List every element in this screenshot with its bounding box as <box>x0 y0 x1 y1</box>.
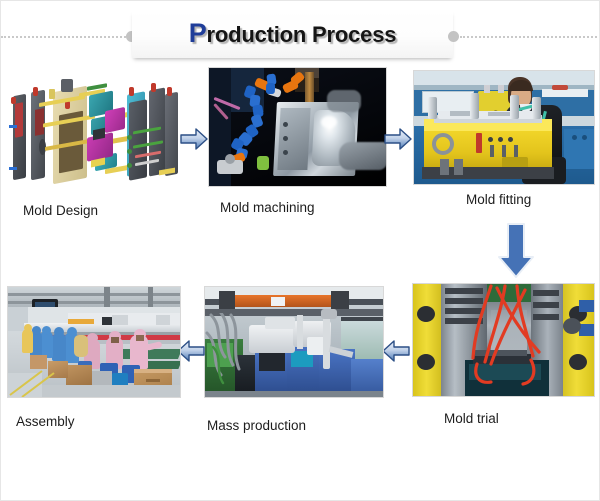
arrow-trial-to-mass-production-icon <box>382 339 410 363</box>
header-connector-left <box>1 36 126 40</box>
step-image-mass-production <box>204 286 384 398</box>
step-label-mold-trial: Mold trial <box>444 411 499 426</box>
page-title: Production Process <box>189 20 397 48</box>
title-rest: roduction Process <box>207 22 397 47</box>
step-image-mold-design <box>9 73 181 193</box>
arrow-design-to-machining-icon <box>180 127 208 151</box>
header-connector-right <box>460 36 600 40</box>
arrow-fitting-to-trial-icon <box>497 223 535 279</box>
step-label-mold-design: Mold Design <box>23 203 98 218</box>
title-banner: Production Process <box>132 10 453 58</box>
step-image-mold-trial <box>412 283 595 397</box>
header-dot-right-icon <box>448 31 459 42</box>
step-image-mold-fitting <box>413 70 595 185</box>
step-label-mold-machining: Mold machining <box>220 200 315 215</box>
production-process-infographic: Production Process <box>0 0 600 501</box>
step-label-mold-fitting: Mold fitting <box>466 192 531 207</box>
step-image-assembly <box>7 286 181 398</box>
title-drop-cap: P <box>189 18 207 48</box>
step-image-mold-machining <box>208 67 387 187</box>
step-label-mass-production: Mass production <box>207 418 306 433</box>
step-label-assembly: Assembly <box>16 414 75 429</box>
arrow-machining-to-fitting-icon <box>384 127 412 151</box>
arrow-mass-production-to-assembly-icon <box>177 339 205 363</box>
